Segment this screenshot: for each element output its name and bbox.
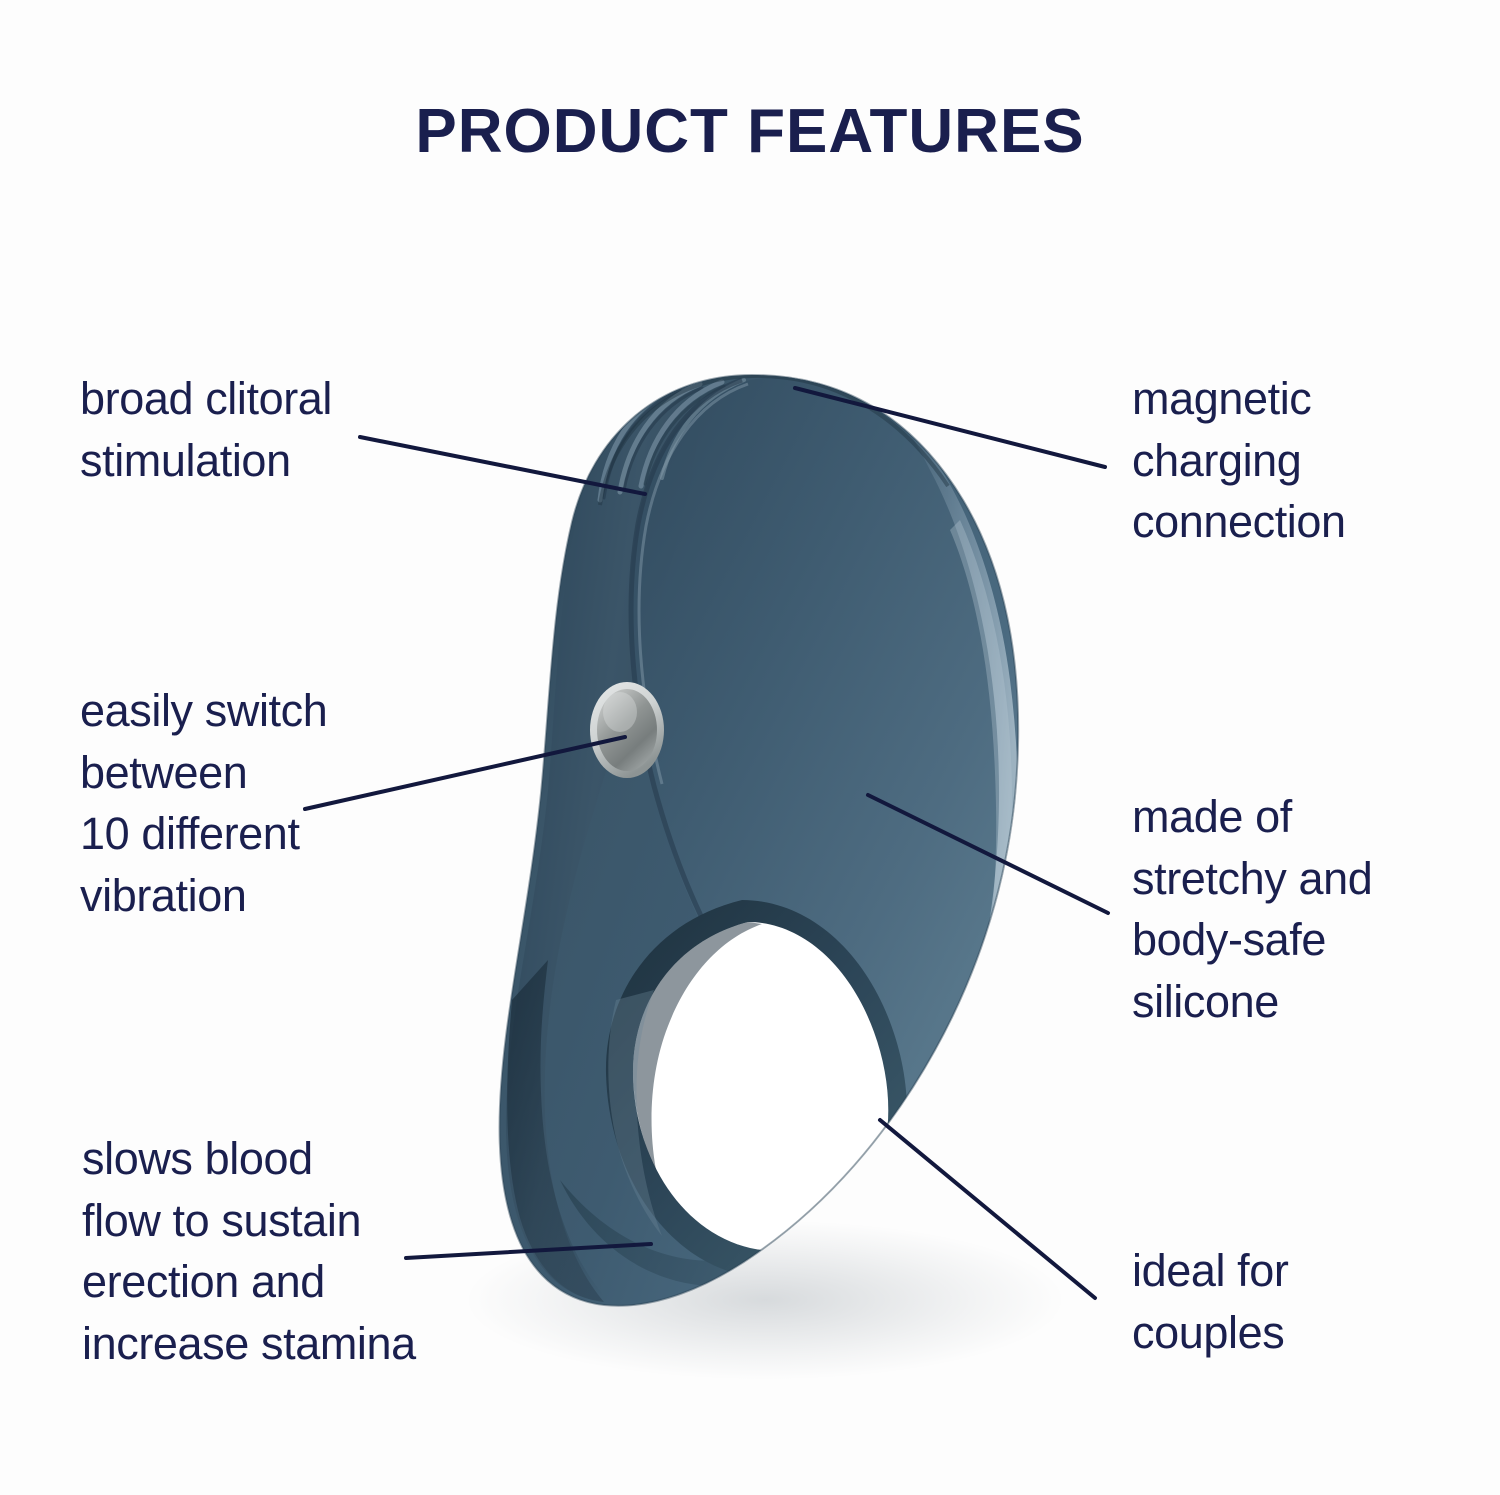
product-features-infographic: PRODUCT FEATURES (0, 0, 1500, 1495)
callout-line: made of (1132, 786, 1492, 848)
callout-line: stretchy and (1132, 848, 1492, 910)
callout-line: vibration (80, 865, 510, 927)
callout-line: erection and (82, 1251, 512, 1313)
callout-label-switch: easily switch between 10 different vibra… (80, 680, 510, 927)
callout-line: stimulation (80, 430, 510, 492)
callout-label-clitoral: broad clitoral stimulation (80, 368, 510, 491)
callout-line: ideal for (1132, 1240, 1492, 1302)
callout-line: silicone (1132, 971, 1492, 1033)
callout-line: broad clitoral (80, 368, 510, 430)
callout-label-blood: slows blood flow to sustain erection and… (82, 1128, 512, 1375)
callout-line: flow to sustain (82, 1190, 512, 1252)
callout-label-silicone: made of stretchy and body-safe silicone (1132, 786, 1492, 1033)
callout-line: charging (1132, 430, 1492, 492)
callout-label-magnetic: magnetic charging connection (1132, 368, 1492, 553)
callout-line: between (80, 742, 510, 804)
callout-line: couples (1132, 1302, 1492, 1364)
callout-line: 10 different (80, 803, 510, 865)
callout-line: body-safe (1132, 909, 1492, 971)
callout-label-couples: ideal for couples (1132, 1240, 1492, 1363)
callout-line: easily switch (80, 680, 510, 742)
callout-line: connection (1132, 491, 1492, 553)
callout-line: slows blood (82, 1128, 512, 1190)
power-button[interactable] (590, 682, 664, 778)
callout-line: increase stamina (82, 1313, 512, 1375)
callout-line: magnetic (1132, 368, 1492, 430)
